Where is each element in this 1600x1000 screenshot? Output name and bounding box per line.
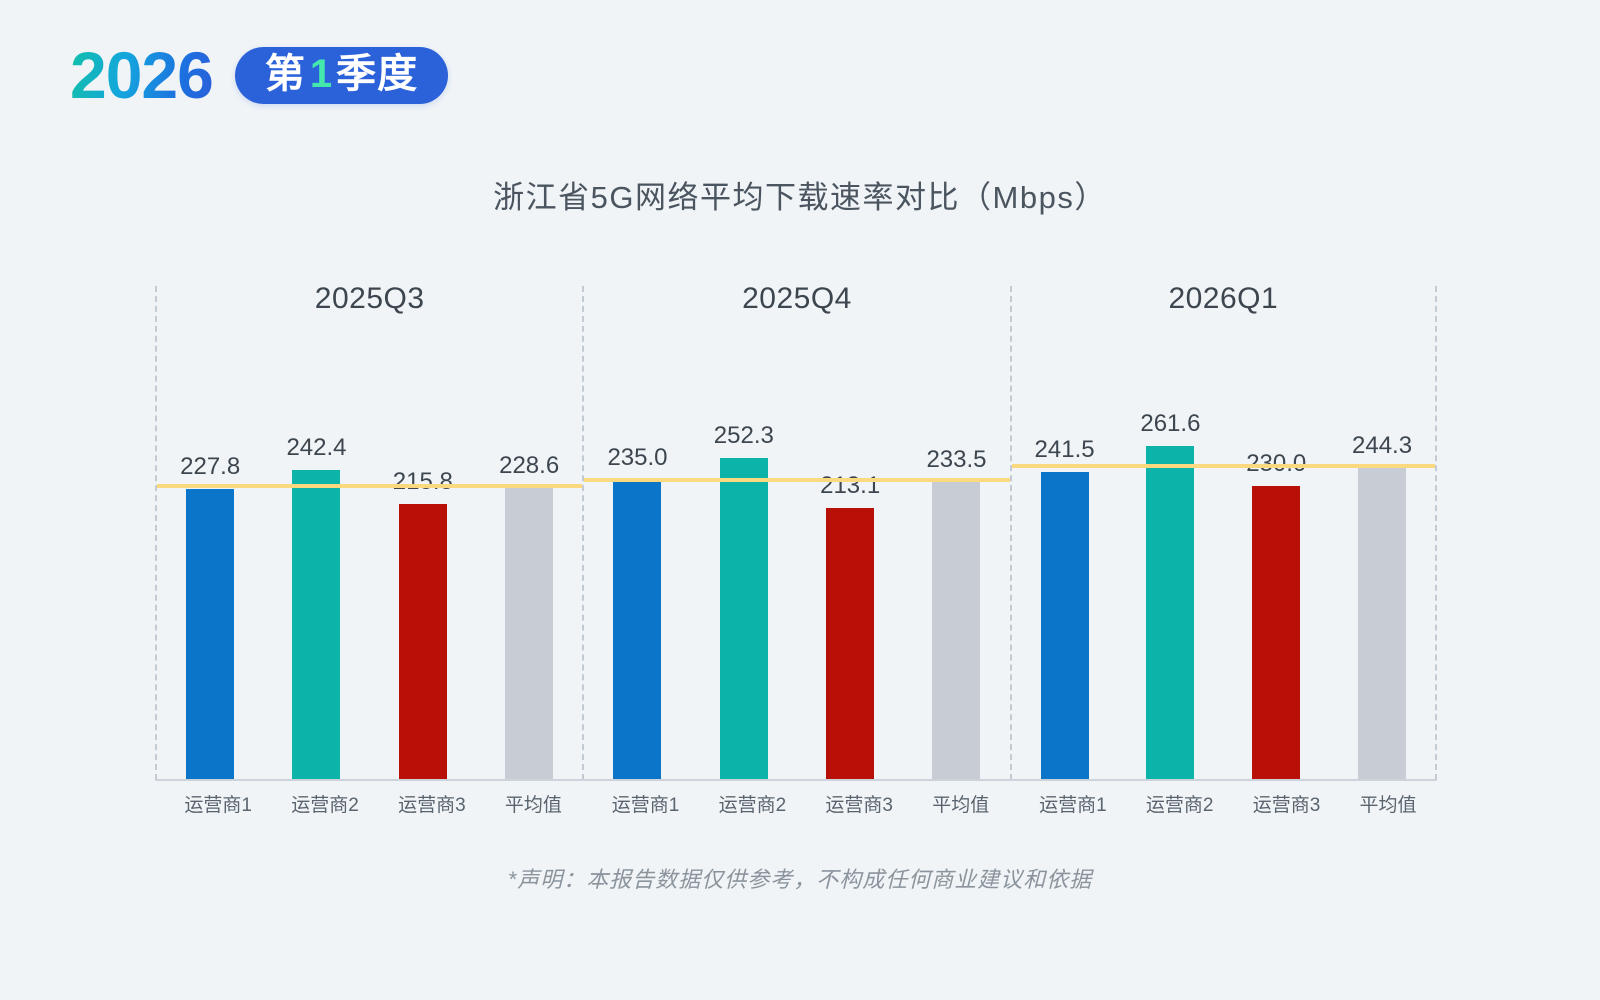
x-axis-labels: 运营商1运营商2运营商3平均值运营商1运营商2运营商3平均值运营商1运营商2运营… [155,790,1437,830]
bar-item[interactable]: 252.3 [720,359,768,779]
bar-value-label: 244.3 [1352,432,1412,460]
bar-item[interactable]: 261.6 [1146,359,1194,779]
bar-item[interactable]: 227.8 [186,359,234,779]
x-label-group: 运营商1运营商2运营商3平均值 [155,790,582,830]
chart-panel-2025q4: 2025Q4235.0252.3213.1233.5 [582,286,1009,780]
bar-运营商2[interactable] [720,458,768,779]
average-reference-line [584,478,1009,482]
bar-group: 241.5261.6230.0244.3 [1012,359,1435,779]
chart-panels: 2025Q3227.8242.4215.8228.62025Q4235.0252… [155,286,1437,780]
bar-value-label: 241.5 [1035,436,1095,464]
average-reference-line [157,484,582,488]
bar-value-label: 215.8 [393,468,453,496]
bar-运营商1[interactable] [186,489,234,779]
x-axis-label: 平均值 [505,790,553,830]
bar-value-label: 233.5 [926,446,986,474]
x-axis-label: 运营商3 [825,790,873,830]
bar-运营商1[interactable] [1041,472,1089,779]
chart-panel-2026q1: 2026Q1241.5261.6230.0244.3 [1010,286,1437,780]
x-axis-label: 运营商2 [291,790,339,830]
bar-item[interactable]: 213.1 [826,359,874,779]
x-axis-label: 平均值 [1360,790,1408,830]
bar-item[interactable]: 241.5 [1041,359,1089,779]
bar-value-label: 227.8 [180,453,240,481]
bar-运营商2[interactable] [1146,446,1194,779]
bar-运营商2[interactable] [292,470,340,779]
x-axis-label: 运营商1 [612,790,660,830]
x-axis-label: 运营商2 [1146,790,1194,830]
bar-value-label: 261.6 [1140,410,1200,438]
bar-平均值[interactable] [1358,468,1406,779]
bar-group: 235.0252.3213.1233.5 [584,359,1009,779]
bar-value-label: 235.0 [607,444,667,472]
bar-value-label: 213.1 [820,472,880,500]
bar-value-label: 228.6 [499,452,559,480]
bar-item[interactable]: 215.8 [399,359,447,779]
quarter-suffix-label: 季度 [336,54,418,94]
x-axis-label: 运营商1 [184,790,232,830]
bar-平均值[interactable] [505,488,553,779]
chart-panel-2025q3: 2025Q3227.8242.4215.8228.6 [155,286,582,780]
footnote-disclaimer: *声明：本报告数据仅供参考，不构成任何商业建议和依据 [0,862,1600,894]
quarter-prefix-label: 第 [265,54,306,94]
x-axis-label: 运营商3 [398,790,446,830]
x-axis-label: 运营商2 [719,790,767,830]
quarter-pill: 第 1 季度 [235,47,448,104]
bar-item[interactable]: 230.0 [1252,359,1300,779]
bar-运营商1[interactable] [613,480,661,779]
bar-item[interactable]: 242.4 [292,359,340,779]
bar-group: 227.8242.4215.8228.6 [157,359,582,779]
x-axis-label: 运营商3 [1253,790,1301,830]
x-label-group: 运营商1运营商2运营商3平均值 [582,790,1009,830]
year-label: 2026 [70,42,213,108]
bar-item[interactable]: 244.3 [1358,359,1406,779]
x-axis-label: 运营商1 [1039,790,1087,830]
bar-item[interactable]: 235.0 [613,359,661,779]
header-badge: 2026 第 1 季度 [70,42,448,108]
bar-运营商3[interactable] [399,504,447,779]
panel-title: 2025Q3 [157,282,582,316]
bar-value-label: 252.3 [714,422,774,450]
bar-item[interactable]: 228.6 [505,359,553,779]
x-axis-line [155,779,1437,781]
bar-运营商3[interactable] [826,508,874,779]
average-reference-line [1012,464,1435,468]
bar-chart: 2025Q3227.8242.4215.8228.62025Q4235.0252… [155,286,1437,780]
panel-title: 2026Q1 [1012,282,1435,316]
bar-item[interactable]: 233.5 [932,359,980,779]
x-axis-label: 平均值 [932,790,980,830]
panel-title: 2025Q4 [584,282,1009,316]
bar-value-label: 242.4 [286,434,346,462]
x-label-group: 运营商1运营商2运营商3平均值 [1010,790,1437,830]
bar-平均值[interactable] [932,482,980,779]
chart-title: 浙江省5G网络平均下载速率对比（Mbps） [0,172,1600,217]
quarter-number-label: 1 [306,54,336,94]
bar-运营商3[interactable] [1252,486,1300,779]
